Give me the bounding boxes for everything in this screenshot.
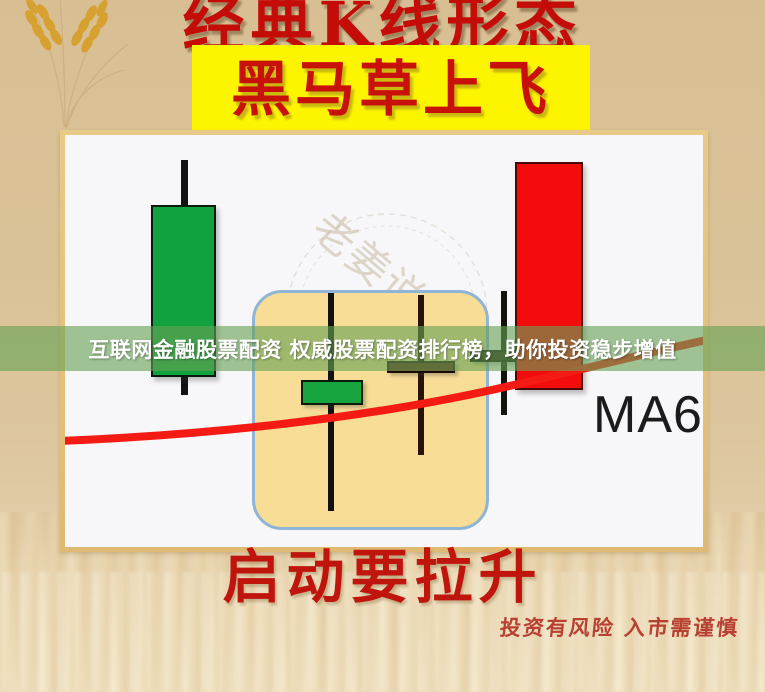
ad-overlay-text: 互联网金融股票配资 权威股票配资排行榜，助你投资稳步增值 xyxy=(88,334,676,364)
candle-2-body xyxy=(301,380,363,405)
stock-pattern-infographic: 经典K线形态 黑马草上飞 老姜说市 xyxy=(0,0,765,692)
yellow-banner: 黑马草上飞 xyxy=(192,45,590,135)
ma60-label: MA60 xyxy=(593,385,703,445)
candle-3-wick xyxy=(418,295,424,455)
yellow-banner-text: 黑马草上飞 xyxy=(231,60,551,120)
risk-disclaimer: 投资有风险 入市需谨慎 xyxy=(498,612,740,642)
bottom-caption: 启动要拉升 xyxy=(0,530,765,614)
ad-overlay-banner[interactable]: 互联网金融股票配资 权威股票配资排行榜，助你投资稳步增值 xyxy=(0,326,765,371)
